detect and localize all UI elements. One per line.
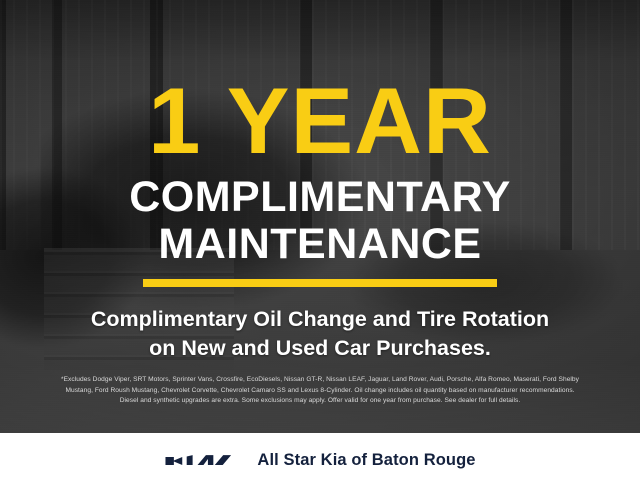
headline-stack: 1 YEAR COMPLIMENTARY MAINTENANCE Complim… [0,0,640,433]
hero-photo-area: 1 YEAR COMPLIMENTARY MAINTENANCE Complim… [0,0,640,433]
disclaimer-line-2: Mustang, Ford Roush Mustang, Chevrolet C… [14,386,626,397]
dealer-name: All Star Kia of Baton Rouge [257,451,475,470]
disclaimer-line-3: Diesel and synthetic upgrades are extra.… [14,396,626,407]
promo-offer-line-2: on New and Used Car Purchases. [149,335,491,363]
dealer-footer: All Star Kia of Baton Rouge [0,433,640,488]
kia-logo-icon [164,451,238,471]
disclaimer-fine-print: *Excludes Dodge Viper, SRT Motors, Sprin… [14,375,626,407]
headline-year: 1 YEAR [148,78,492,164]
disclaimer-line-1: *Excludes Dodge Viper, SRT Motors, Sprin… [14,375,626,386]
promo-offer-line-1: Complimentary Oil Change and Tire Rotati… [91,306,549,334]
yellow-accent-rule [143,279,497,287]
promo-banner: 1 YEAR COMPLIMENTARY MAINTENANCE Complim… [0,0,640,488]
headline-complimentary: COMPLIMENTARY [129,176,511,219]
headline-maintenance: MAINTENANCE [158,223,481,266]
